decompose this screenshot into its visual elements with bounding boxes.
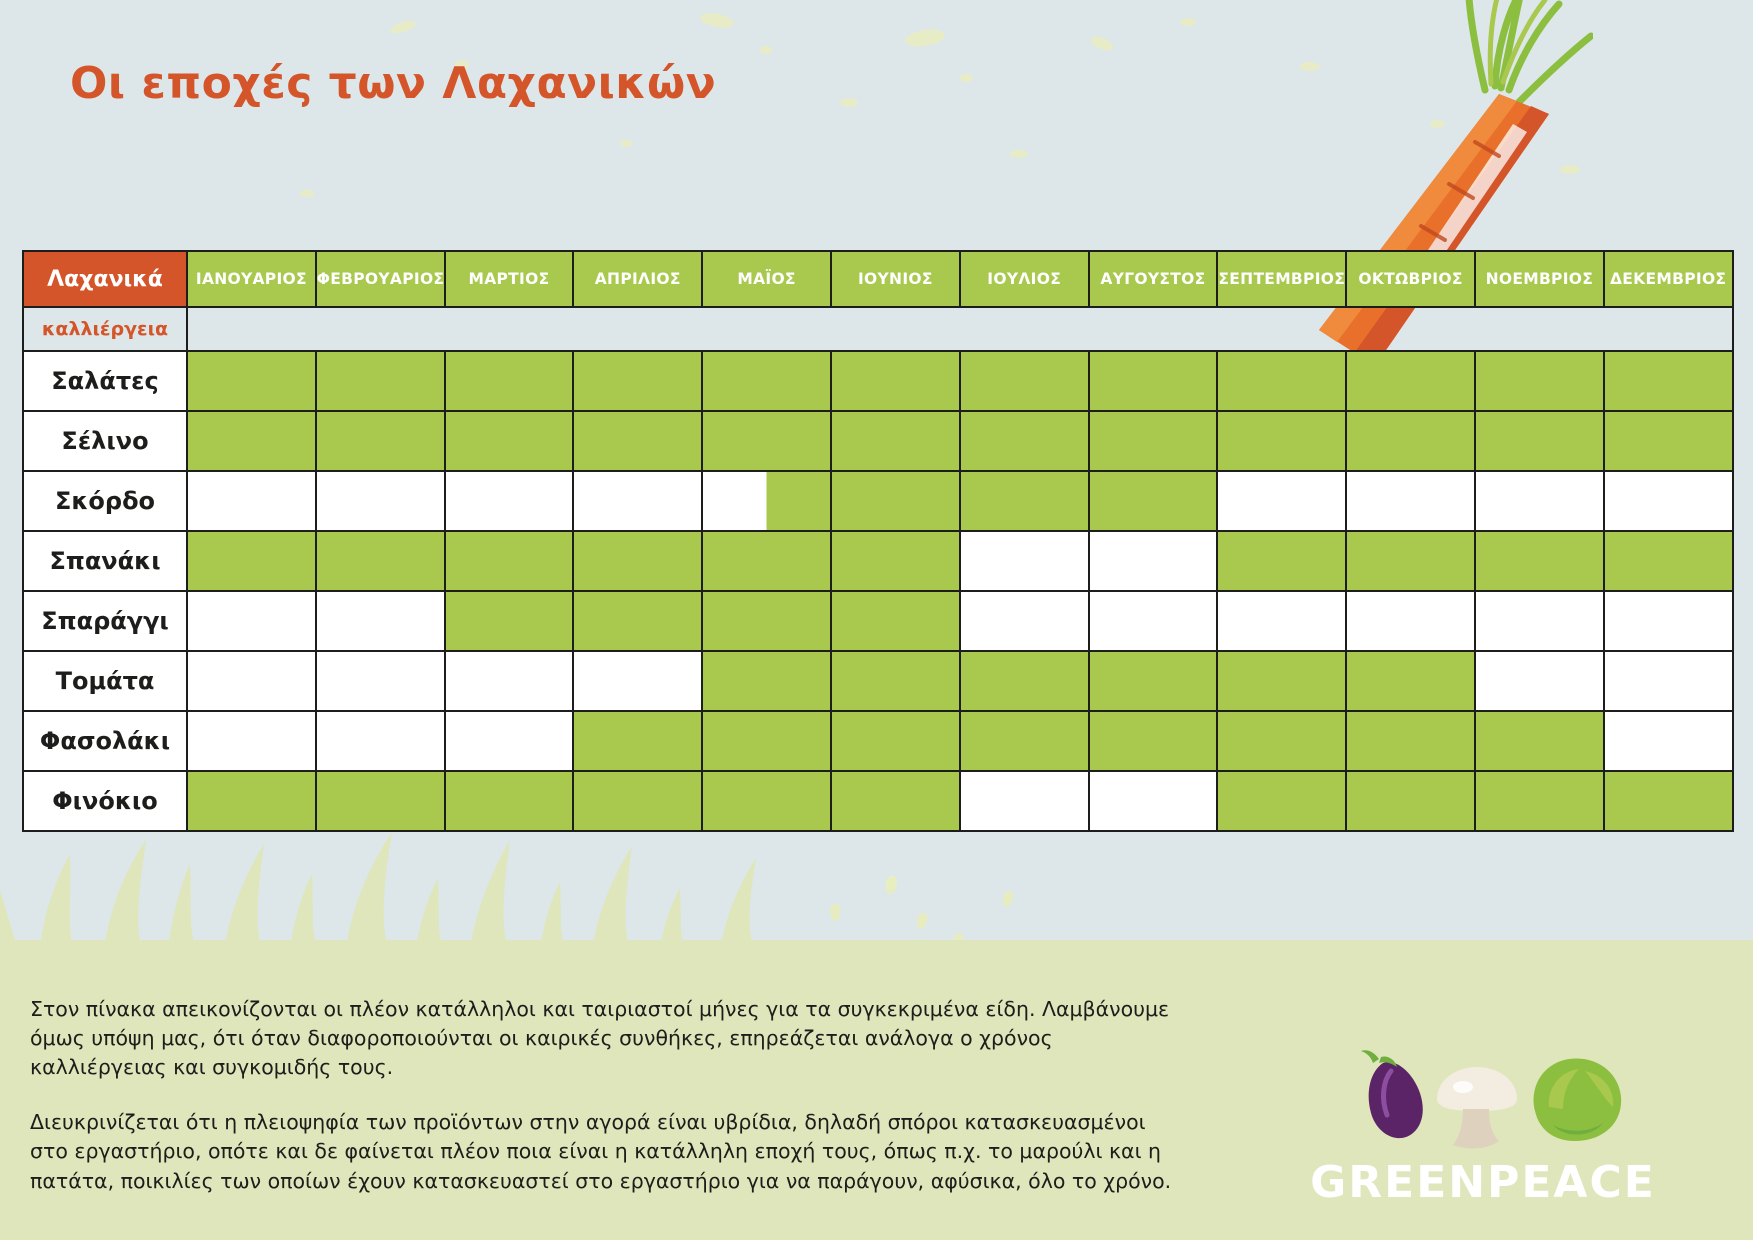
footer-note: Στον πίνακα απεικονίζονται οι πλέον κατά… <box>30 995 1180 1222</box>
season-cell <box>960 771 1089 831</box>
season-cell <box>1346 411 1475 471</box>
season-cell <box>1346 651 1475 711</box>
season-cell <box>960 711 1089 771</box>
season-cell <box>1217 471 1346 531</box>
season-cell <box>1475 651 1604 711</box>
season-cell <box>1217 531 1346 591</box>
header-month-4: ΑΠΡΙΛΙΟΣ <box>573 251 702 307</box>
table-row: Σέλινο <box>23 411 1733 471</box>
season-cell <box>1604 411 1733 471</box>
season-cell <box>1475 771 1604 831</box>
vegetable-name-3: Σκόρδο <box>23 471 187 531</box>
header-month-10: ΟΚΤΩΒΡΙΟΣ <box>1346 251 1475 307</box>
season-cell <box>1475 411 1604 471</box>
header-month-12: ΔΕΚΕΜΒΡΙΟΣ <box>1604 251 1733 307</box>
season-cell <box>831 351 960 411</box>
season-cell <box>1604 531 1733 591</box>
eggplant-icon <box>1361 1050 1423 1138</box>
season-cell <box>960 591 1089 651</box>
season-cell <box>1475 471 1604 531</box>
season-cell <box>960 531 1089 591</box>
season-cell <box>831 531 960 591</box>
season-cell <box>1604 471 1733 531</box>
season-cell <box>445 591 574 651</box>
calendar-body: καλλιέργεια ΣαλάτεςΣέλινοΣκόρδοΣπανάκιΣπ… <box>23 307 1733 831</box>
season-cell <box>316 591 445 651</box>
cultivation-sub-row: καλλιέργεια <box>23 307 1733 351</box>
header-month-11: ΝΟΕΜΒΡΙΟΣ <box>1475 251 1604 307</box>
season-cell <box>1475 591 1604 651</box>
season-cell <box>1217 351 1346 411</box>
season-cell <box>573 591 702 651</box>
season-cell <box>1346 771 1475 831</box>
season-cell <box>1346 471 1475 531</box>
table-row: Φινόκιο <box>23 771 1733 831</box>
season-cell <box>573 651 702 711</box>
page-title: Οι εποχές των Λαχανικών <box>70 58 716 109</box>
season-cell <box>702 591 831 651</box>
season-cell <box>573 471 702 531</box>
grass-decoration <box>0 820 1753 950</box>
header-month-7: ΙΟΥΛΙΟΣ <box>960 251 1089 307</box>
season-cell <box>1089 711 1218 771</box>
season-cell <box>702 411 831 471</box>
lettuce-icon <box>1534 1058 1622 1141</box>
season-cell <box>702 531 831 591</box>
vegetable-name-5: Σπαράγγι <box>23 591 187 651</box>
season-cell <box>573 771 702 831</box>
season-cell <box>445 711 574 771</box>
season-cell <box>573 531 702 591</box>
header-month-5: ΜΑΪΟΣ <box>702 251 831 307</box>
season-cell <box>831 411 960 471</box>
header-month-1: ΙΑΝΟΥΑΡΙΟΣ <box>187 251 316 307</box>
season-cell <box>187 411 316 471</box>
mushroom-icon <box>1437 1067 1517 1148</box>
cultivation-label: καλλιέργεια <box>23 307 187 351</box>
table-row: Σπαράγγι <box>23 591 1733 651</box>
greenpeace-wordmark: GREENPEACE <box>1243 1157 1723 1208</box>
season-cell <box>960 471 1089 531</box>
season-cell <box>1475 711 1604 771</box>
greenpeace-logo: GREENPEACE <box>1243 1028 1723 1218</box>
season-cell <box>831 591 960 651</box>
vegetable-name-6: Τομάτα <box>23 651 187 711</box>
season-cell <box>1346 711 1475 771</box>
season-cell <box>445 651 574 711</box>
season-cell <box>702 651 831 711</box>
table-row: Σκόρδο <box>23 471 1733 531</box>
season-cell <box>1604 711 1733 771</box>
table-row: Σαλάτες <box>23 351 1733 411</box>
calendar-header: Λαχανικά ΙΑΝΟΥΑΡΙΟΣ ΦΕΒΡΟΥΑΡΙΟΣ ΜΑΡΤΙΟΣ … <box>23 251 1733 307</box>
season-cell <box>702 711 831 771</box>
vegetable-name-1: Σαλάτες <box>23 351 187 411</box>
table-row: Φασολάκι <box>23 711 1733 771</box>
header-vegetables: Λαχανικά <box>23 251 187 307</box>
season-cell <box>316 711 445 771</box>
season-cell <box>1089 411 1218 471</box>
season-cell <box>702 771 831 831</box>
season-cell <box>1089 531 1218 591</box>
season-cell <box>831 471 960 531</box>
season-cell <box>1346 531 1475 591</box>
season-cell <box>187 531 316 591</box>
table-row: Τομάτα <box>23 651 1733 711</box>
season-cell <box>1604 651 1733 711</box>
season-cell <box>187 711 316 771</box>
table-row: Σπανάκι <box>23 531 1733 591</box>
season-cell <box>316 351 445 411</box>
footer-paragraph-2: Διευκρινίζεται ότι η πλειοψηφία των προϊ… <box>30 1108 1180 1195</box>
vegetable-name-2: Σέλινο <box>23 411 187 471</box>
season-cell <box>445 531 574 591</box>
vegetable-name-8: Φινόκιο <box>23 771 187 831</box>
season-cell <box>1089 771 1218 831</box>
season-cell <box>573 711 702 771</box>
season-cell <box>1089 651 1218 711</box>
season-cell <box>1217 591 1346 651</box>
season-cell <box>702 471 831 531</box>
season-cell <box>187 651 316 711</box>
season-cell <box>1346 591 1475 651</box>
season-cell <box>1089 471 1218 531</box>
header-month-2: ΦΕΒΡΟΥΑΡΙΟΣ <box>316 251 445 307</box>
vegetable-name-4: Σπανάκι <box>23 531 187 591</box>
season-cell <box>1604 771 1733 831</box>
vegetable-illustrations <box>1353 1041 1633 1156</box>
header-month-6: ΙΟΥΝΙΟΣ <box>831 251 960 307</box>
season-cell <box>445 471 574 531</box>
header-month-8: ΑΥΓΟΥΣΤΟΣ <box>1089 251 1218 307</box>
season-cell <box>1089 351 1218 411</box>
season-cell <box>1217 651 1346 711</box>
season-cell <box>1475 351 1604 411</box>
season-cell <box>960 351 1089 411</box>
header-month-3: ΜΑΡΤΙΟΣ <box>445 251 574 307</box>
season-cell <box>1604 591 1733 651</box>
season-cell <box>1475 531 1604 591</box>
season-cell <box>1346 351 1475 411</box>
season-cell <box>573 351 702 411</box>
season-cell <box>1604 351 1733 411</box>
season-cell <box>316 771 445 831</box>
vegetable-name-7: Φασολάκι <box>23 711 187 771</box>
season-cell <box>316 471 445 531</box>
season-cell <box>187 771 316 831</box>
season-cell <box>445 351 574 411</box>
season-cell <box>960 651 1089 711</box>
season-cell <box>187 471 316 531</box>
season-cell <box>960 411 1089 471</box>
seasonal-vegetable-calendar: Λαχανικά ΙΑΝΟΥΑΡΙΟΣ ΦΕΒΡΟΥΑΡΙΟΣ ΜΑΡΤΙΟΣ … <box>22 250 1734 832</box>
season-cell <box>1089 591 1218 651</box>
season-cell <box>187 591 316 651</box>
season-cell <box>831 711 960 771</box>
season-cell <box>1217 771 1346 831</box>
cultivation-blank-span <box>187 307 1733 351</box>
season-cell <box>445 771 574 831</box>
season-cell <box>573 411 702 471</box>
season-cell <box>316 531 445 591</box>
season-cell <box>445 411 574 471</box>
header-row: Λαχανικά ΙΑΝΟΥΑΡΙΟΣ ΦΕΒΡΟΥΑΡΙΟΣ ΜΑΡΤΙΟΣ … <box>23 251 1733 307</box>
season-cell <box>702 351 831 411</box>
season-cell <box>187 351 316 411</box>
season-cell <box>316 411 445 471</box>
header-month-9: ΣΕΠΤΕΜΒΡΙΟΣ <box>1217 251 1346 307</box>
season-cell <box>831 651 960 711</box>
season-cell <box>831 771 960 831</box>
footer-paragraph-1: Στον πίνακα απεικονίζονται οι πλέον κατά… <box>30 995 1180 1082</box>
season-cell <box>1217 711 1346 771</box>
season-cell <box>1217 411 1346 471</box>
season-cell <box>316 651 445 711</box>
